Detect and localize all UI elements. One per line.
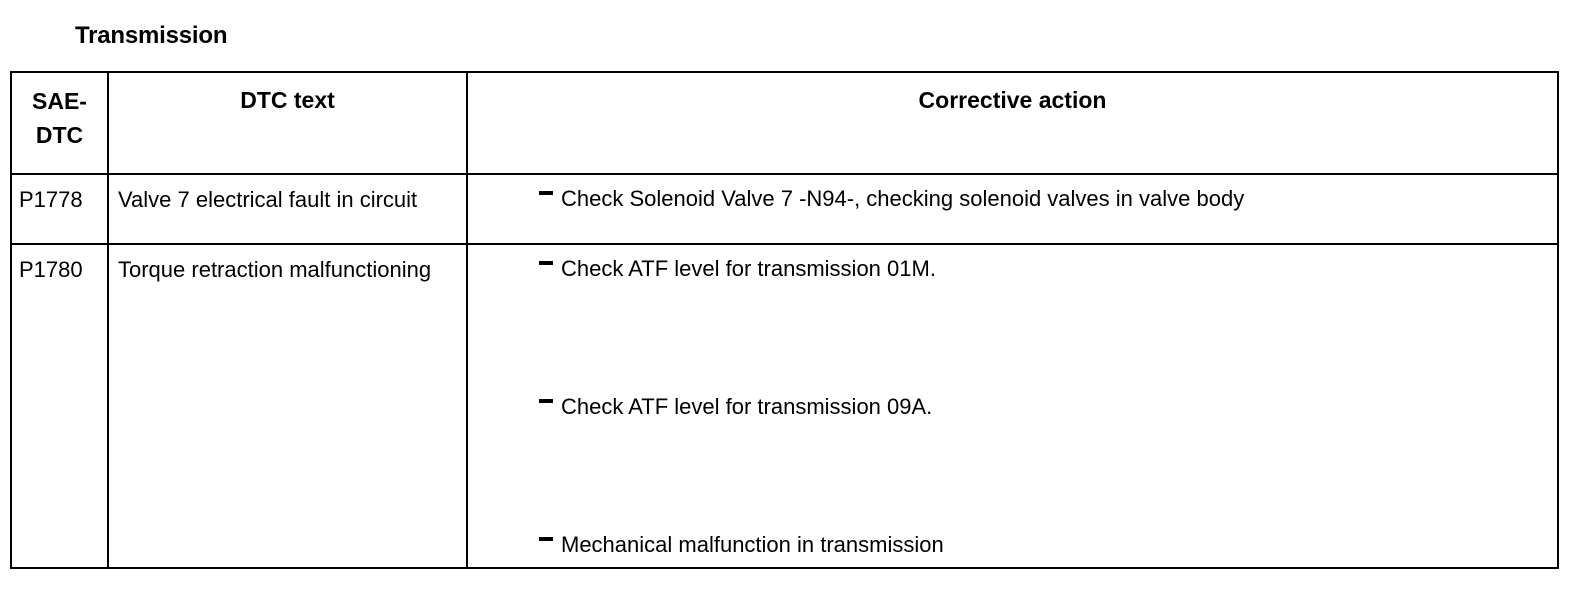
column-header-sae-dtc: SAE- DTC — [11, 72, 108, 174]
dash-bullet-icon — [539, 399, 553, 403]
corrective-action-text: Check ATF level for transmission 01M. — [561, 256, 936, 281]
column-header-dtc-text: DTC text — [108, 72, 467, 174]
cell-dtc-text: Torque retraction malfunctioning — [108, 244, 467, 568]
column-header-sae-dtc-line1: SAE- — [12, 84, 107, 118]
dash-bullet-icon — [539, 261, 553, 265]
list-item: Mechanical malfunction in transmission — [468, 531, 1547, 559]
list-item: Check ATF level for transmission 01M. — [468, 255, 1547, 283]
list-item: Check ATF level for transmission 09A. — [468, 393, 1547, 421]
dtc-text-description: Valve 7 electrical fault in circuit — [109, 175, 466, 224]
corrective-action-text: Mechanical malfunction in transmission — [561, 532, 944, 557]
column-header-sae-dtc-line2: DTC — [12, 118, 107, 152]
dtc-table: SAE- DTC DTC text Corrective action P177… — [10, 71, 1559, 569]
sae-dtc-code: P1778 — [12, 175, 107, 214]
table-row: P1778 Valve 7 electrical fault in circui… — [11, 174, 1558, 244]
cell-sae-dtc: P1778 — [11, 174, 108, 244]
table-body: P1778 Valve 7 electrical fault in circui… — [11, 174, 1558, 568]
cell-corrective-action: Check Solenoid Valve 7 -N94-, checking s… — [467, 174, 1558, 244]
corrective-action-wrapper: Check Solenoid Valve 7 -N94-, checking s… — [468, 175, 1557, 221]
corrective-action-list: Check ATF level for transmission 01M. Ch… — [468, 255, 1547, 559]
dash-bullet-icon — [539, 191, 553, 195]
corrective-action-list: Check Solenoid Valve 7 -N94-, checking s… — [468, 185, 1547, 213]
page-title: Transmission — [75, 24, 227, 48]
dash-bullet-icon — [539, 537, 553, 541]
column-header-dtc-text-label: DTC text — [109, 73, 466, 114]
column-header-corrective-action: Corrective action — [467, 72, 1558, 174]
sae-dtc-code: P1780 — [12, 245, 107, 284]
table-row: P1780 Torque retraction malfunctioning C… — [11, 244, 1558, 568]
table-header-row: SAE- DTC DTC text Corrective action — [11, 72, 1558, 174]
column-header-corrective-action-label: Corrective action — [468, 73, 1557, 114]
dtc-text-description: Torque retraction malfunctioning — [109, 245, 466, 294]
cell-corrective-action: Check ATF level for transmission 01M. Ch… — [467, 244, 1558, 568]
document-page: Transmission SAE- DTC DTC text Correctiv… — [0, 0, 1584, 592]
list-item: Check Solenoid Valve 7 -N94-, checking s… — [468, 185, 1547, 213]
cell-dtc-text: Valve 7 electrical fault in circuit — [108, 174, 467, 244]
corrective-action-text: Check ATF level for transmission 09A. — [561, 394, 932, 419]
cell-sae-dtc: P1780 — [11, 244, 108, 568]
corrective-action-text: Check Solenoid Valve 7 -N94-, checking s… — [561, 186, 1244, 211]
corrective-action-wrapper: Check ATF level for transmission 01M. Ch… — [468, 245, 1557, 567]
table-header: SAE- DTC DTC text Corrective action — [11, 72, 1558, 174]
